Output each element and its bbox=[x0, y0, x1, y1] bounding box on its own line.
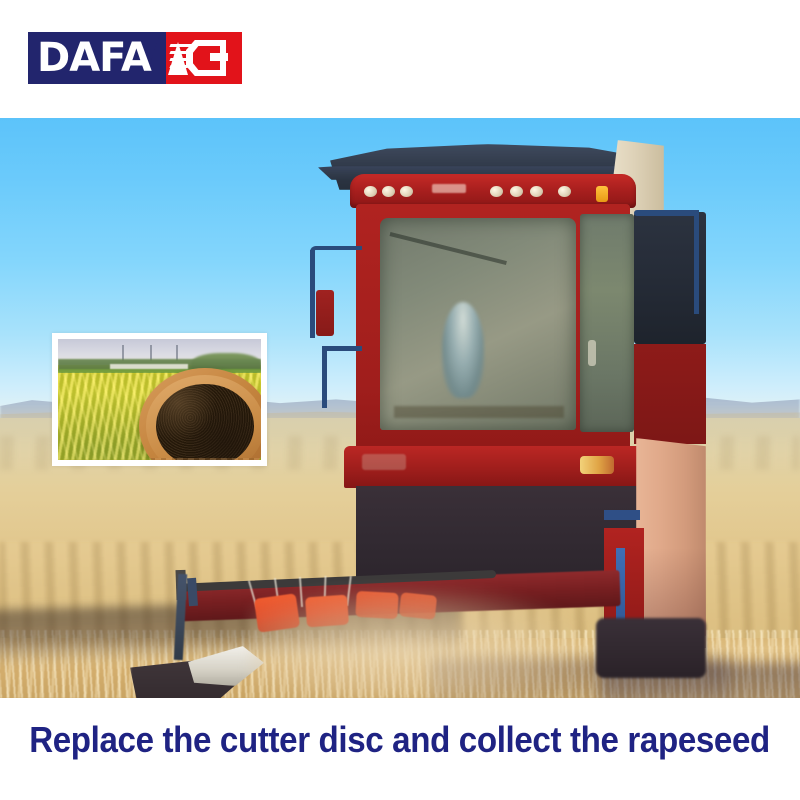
bowl-wood-slats bbox=[139, 458, 261, 460]
reel-post bbox=[187, 578, 198, 607]
main-photo bbox=[0, 118, 800, 698]
work-light-icon bbox=[382, 186, 395, 197]
inset-photo bbox=[52, 333, 267, 466]
work-light-icon bbox=[490, 186, 503, 197]
drive-wheel bbox=[596, 618, 706, 678]
dust-cloud bbox=[250, 588, 580, 698]
dafa-g-logo: DAFA bbox=[28, 32, 242, 84]
cab-side-door bbox=[580, 214, 634, 432]
door-handle bbox=[588, 340, 596, 366]
work-light-icon bbox=[510, 186, 523, 197]
engine-module-lower bbox=[634, 344, 706, 444]
logo-g-mark-icon bbox=[178, 40, 228, 76]
amber-beacon-icon bbox=[596, 186, 608, 202]
work-light-icon bbox=[364, 186, 377, 197]
windshield-wiper bbox=[390, 232, 507, 265]
caption-bar: Replace the cutter disc and collect the … bbox=[0, 700, 800, 800]
cab-badge bbox=[432, 184, 466, 193]
product-image-card: DAFA bbox=[0, 0, 800, 800]
logo-red-panel bbox=[166, 32, 242, 84]
brand-header: DAFA bbox=[0, 0, 800, 118]
rapeseed-seeds bbox=[156, 384, 254, 460]
cab-handrail-vertical bbox=[310, 250, 315, 338]
inset-canvas bbox=[58, 339, 261, 460]
blue-step bbox=[604, 510, 640, 520]
right-handrail-top bbox=[634, 210, 698, 216]
right-handrail-vertical bbox=[694, 210, 699, 314]
work-light-icon bbox=[530, 186, 543, 197]
cab-dashboard bbox=[394, 406, 564, 418]
caption-text: Replace the cutter disc and collect the … bbox=[30, 718, 771, 762]
side-mirror bbox=[316, 290, 334, 336]
logo-wordmark: DAFA bbox=[28, 32, 151, 84]
logo-blue-panel: DAFA bbox=[28, 32, 166, 84]
cab-handrail-lower-vertical bbox=[322, 346, 327, 408]
work-light-icon bbox=[558, 186, 571, 197]
work-light-icon bbox=[400, 186, 413, 197]
headlight-icon bbox=[580, 456, 614, 474]
operator-silhouette bbox=[442, 302, 484, 398]
front-plate bbox=[362, 454, 406, 470]
cab-handrail-top bbox=[310, 246, 362, 256]
cab-windshield bbox=[380, 218, 576, 430]
cab-handrail-lower bbox=[322, 346, 362, 351]
